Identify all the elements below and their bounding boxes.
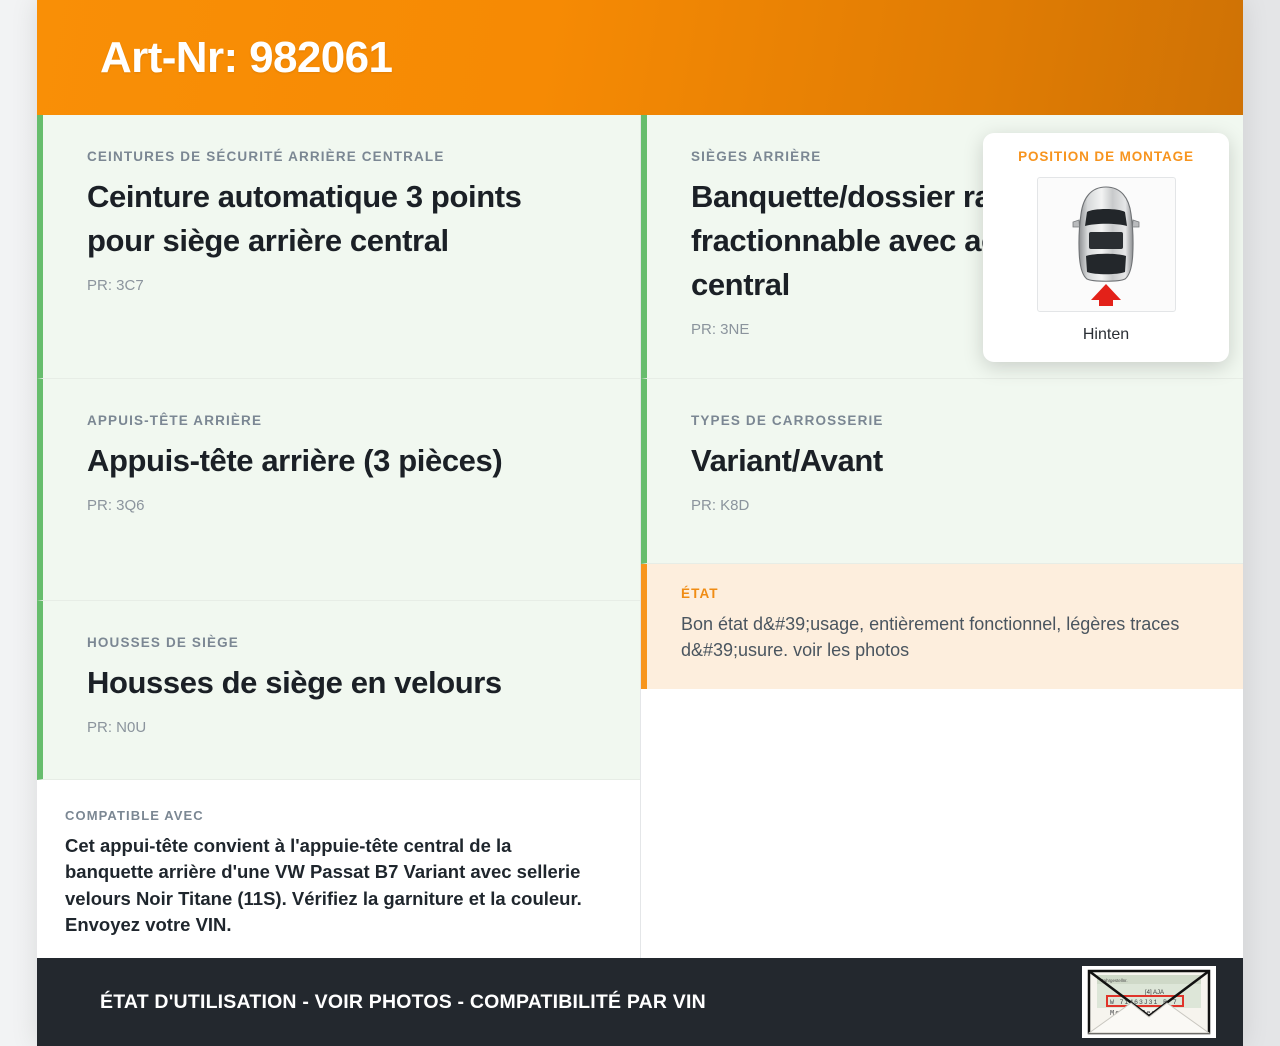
spec-pr-code: PR: N0U xyxy=(87,719,594,737)
spec-value: Variant/Avant xyxy=(691,439,1197,483)
envelope-vin-svg: Fahrgestellnr. [4] AJA W 71463J31 B 7 Me… xyxy=(1087,969,1211,1035)
spec-value: Appuis-tête arrière (3 pièces) xyxy=(87,439,594,483)
compatibility-label: COMPATIBLE AVEC xyxy=(65,808,594,823)
page-footer: ÉTAT D'UTILISATION - VOIR PHOTOS - COMPA… xyxy=(37,958,1243,1046)
car-mirror-right xyxy=(1133,220,1140,227)
spec-label: CEINTURES DE SÉCURITÉ ARRIÈRE CENTRALE xyxy=(87,149,594,165)
spec-pr-code: PR: 3Q6 xyxy=(87,497,594,515)
spec-card-body-type: TYPES DE CARROSSERIE Variant/Avant PR: K… xyxy=(641,379,1243,564)
condition-label: ÉTAT xyxy=(681,586,1197,602)
compatibility-text: Cet appui-tête convient à l'appuie-tête … xyxy=(65,833,594,938)
spec-card-condition: ÉTAT Bon état d&#39;usage, entièrement f… xyxy=(641,564,1243,689)
car-rear-window xyxy=(1086,253,1126,274)
spec-value: Housses de siège en velours xyxy=(87,661,594,705)
envelope-vin-document-icon: Fahrgestellnr. [4] AJA W 71463J31 B 7 Me… xyxy=(1082,966,1216,1038)
rear-position-arrow-icon xyxy=(1091,284,1121,306)
spec-card-seatbelt: CEINTURES DE SÉCURITÉ ARRIÈRE CENTRALE C… xyxy=(37,115,640,379)
spec-label: APPUIS-TÊTE ARRIÈRE xyxy=(87,413,594,429)
listing-sheet: Art-Nr: 982061 CEINTURES DE SÉCURITÉ ARR… xyxy=(37,0,1243,1046)
spec-label: TYPES DE CARROSSERIE xyxy=(691,413,1197,429)
car-windshield xyxy=(1085,209,1127,226)
spec-label: HOUSSES DE SIÈGE xyxy=(87,635,594,651)
page-header: Art-Nr: 982061 xyxy=(37,0,1243,115)
car-top-view-rear-arrow-icon xyxy=(1037,177,1176,312)
specs-column-left: CEINTURES DE SÉCURITÉ ARRIÈRE CENTRALE C… xyxy=(37,115,641,968)
condition-text: Bon état d&#39;usage, entièrement foncti… xyxy=(681,611,1197,663)
car-mirror-left xyxy=(1073,220,1080,227)
footer-text: ÉTAT D'UTILISATION - VOIR PHOTOS - COMPA… xyxy=(37,991,706,1014)
mounting-position-title: POSITION DE MONTAGE xyxy=(997,149,1215,164)
car-diagram-svg xyxy=(1065,184,1147,306)
spec-card-headrests: APPUIS-TÊTE ARRIÈRE Appuis-tête arrière … xyxy=(37,379,640,601)
spec-pr-code: PR: 3C7 xyxy=(87,277,594,295)
spec-pr-code: PR: K8D xyxy=(691,497,1197,515)
mounting-position-card: POSITION DE MONTAGE xyxy=(983,133,1229,362)
spec-card-seat-covers: HOUSSES DE SIÈGE Housses de siège en vel… xyxy=(37,601,640,780)
spec-value: Ceinture automatique 3 points pour siège… xyxy=(87,175,594,263)
compatibility-block: COMPATIBLE AVEC Cet appui-tête convient … xyxy=(37,780,640,968)
page-title: Art-Nr: 982061 xyxy=(37,36,392,80)
car-roof-panel xyxy=(1089,232,1123,249)
specs-grid: CEINTURES DE SÉCURITÉ ARRIÈRE CENTRALE C… xyxy=(37,115,1243,958)
mounting-position-caption: Hinten xyxy=(997,326,1215,344)
